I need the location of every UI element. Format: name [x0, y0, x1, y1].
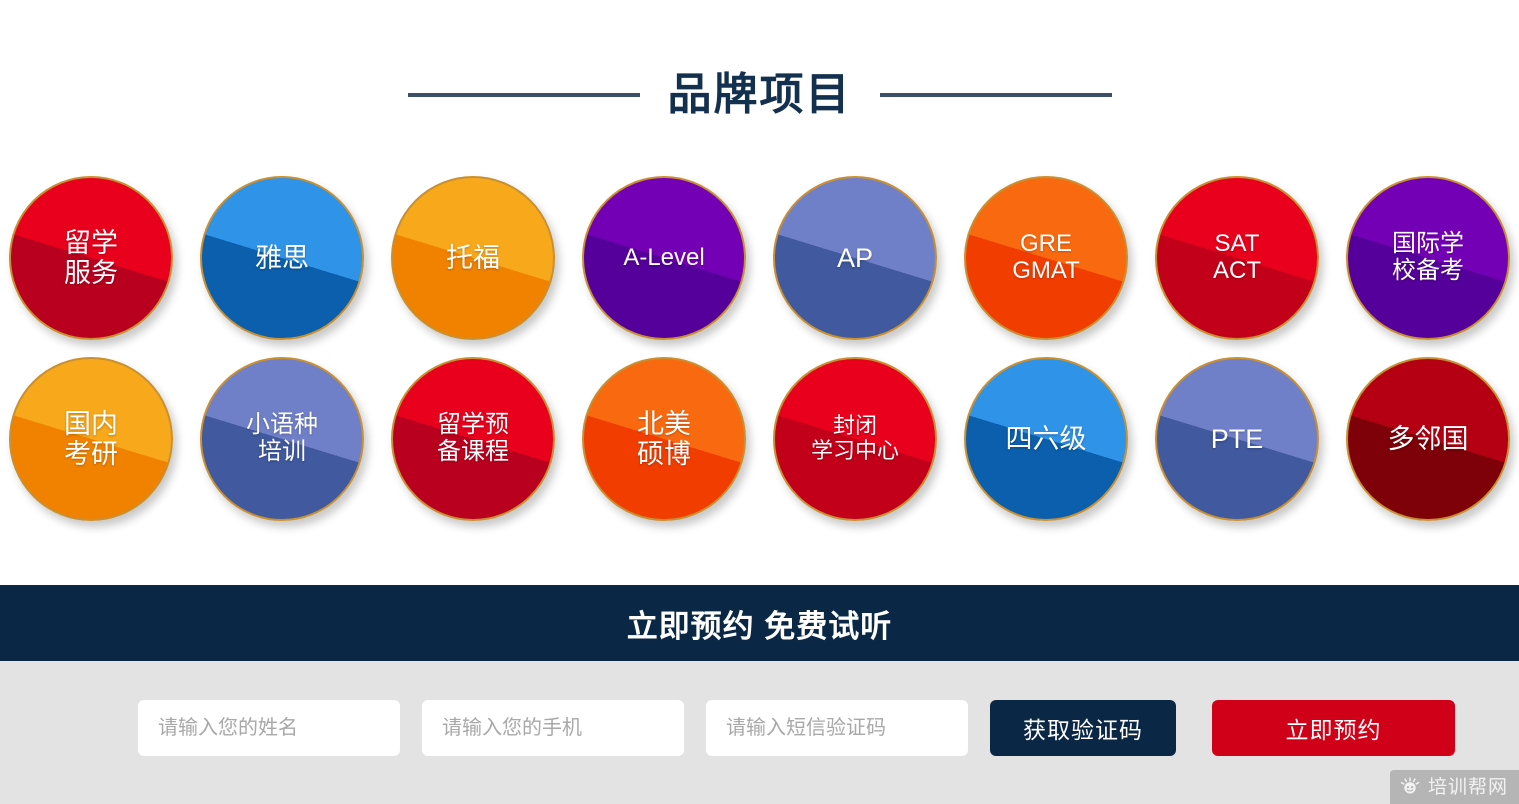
program-bubble-label: 留学预 备课程 [431, 412, 515, 466]
program-bubble-label: SAT ACT [1207, 231, 1267, 285]
program-bubble-label: 国际学 校备考 [1386, 231, 1470, 285]
program-bubble[interactable]: 封闭 学习中心 [773, 357, 937, 521]
program-bubble-label: A-Level [617, 245, 710, 272]
submit-appointment-button[interactable]: 立即预约 [1212, 700, 1455, 756]
program-bubble[interactable]: 四六级 [964, 357, 1128, 521]
program-bubble-label: PTE [1205, 424, 1270, 454]
program-bubble-row: 留学 服务雅思托福A-LevelAPGRE GMATSAT ACT国际学 校备考 [0, 176, 1519, 340]
program-bubble-label: 雅思 [249, 243, 315, 273]
program-bubble[interactable]: 留学 服务 [9, 176, 173, 340]
section-title-row: 品牌项目 [0, 60, 1519, 130]
title-rule-right [880, 93, 1112, 97]
program-bubble[interactable]: 小语种 培训 [200, 357, 364, 521]
program-bubble[interactable]: 雅思 [200, 176, 364, 340]
program-bubble[interactable]: A-Level [582, 176, 746, 340]
program-bubble[interactable]: 托福 [391, 176, 555, 340]
sun-face-icon [1399, 776, 1421, 798]
program-bubble[interactable]: 北美 硕博 [582, 357, 746, 521]
program-bubble[interactable]: 国内 考研 [9, 357, 173, 521]
signup-form: 获取验证码 立即预约 [138, 700, 1455, 756]
brand-programs-page: 品牌项目 留学 服务雅思托福A-LevelAPGRE GMATSAT ACT国际… [0, 0, 1519, 804]
program-bubble[interactable]: 多邻国 [1346, 357, 1510, 521]
program-bubble[interactable]: 国际学 校备考 [1346, 176, 1510, 340]
program-bubble-label: 小语种 培训 [240, 412, 324, 466]
program-bubble-label: 多邻国 [1382, 424, 1475, 454]
page-title: 品牌项目 [668, 73, 852, 117]
program-bubble[interactable]: GRE GMAT [964, 176, 1128, 340]
phone-input[interactable] [422, 700, 684, 756]
program-bubble-label: 国内 考研 [58, 409, 124, 469]
program-bubble[interactable]: 留学预 备课程 [391, 357, 555, 521]
cta-banner: 立即预约 免费试听 [0, 585, 1519, 661]
signup-form-strip: 获取验证码 立即预约 [0, 661, 1519, 804]
program-bubble-grid: 留学 服务雅思托福A-LevelAPGRE GMATSAT ACT国际学 校备考… [0, 176, 1519, 521]
get-sms-code-button[interactable]: 获取验证码 [990, 700, 1176, 756]
sms-code-input[interactable] [706, 700, 968, 756]
program-bubble-label: 封闭 学习中心 [805, 414, 905, 463]
name-input[interactable] [138, 700, 400, 756]
cta-banner-text: 立即预约 免费试听 [627, 601, 893, 646]
program-bubble[interactable]: PTE [1155, 357, 1319, 521]
program-bubble-label: 托福 [440, 243, 506, 273]
program-bubble-label: 四六级 [1000, 424, 1093, 454]
program-bubble-label: GRE GMAT [1006, 231, 1086, 285]
program-bubble-label: AP [831, 243, 879, 273]
program-bubble[interactable]: AP [773, 176, 937, 340]
site-watermark: 培训帮网 [1390, 770, 1519, 804]
program-bubble-row: 国内 考研小语种 培训留学预 备课程北美 硕博封闭 学习中心四六级PTE多邻国 [0, 357, 1519, 521]
watermark-text: 培训帮网 [1428, 778, 1508, 797]
program-bubble-label: 留学 服务 [58, 228, 124, 288]
program-bubble[interactable]: SAT ACT [1155, 176, 1319, 340]
title-rule-left [408, 93, 640, 97]
program-bubble-label: 北美 硕博 [631, 409, 697, 469]
